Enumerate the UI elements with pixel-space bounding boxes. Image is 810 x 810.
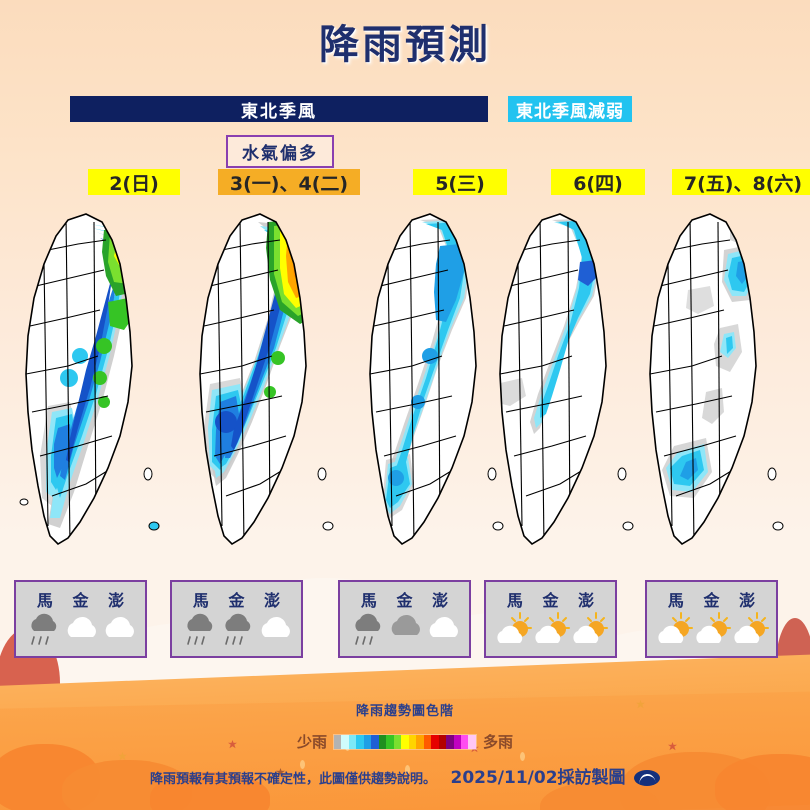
- footer-credit: 2025/11/02採訪製圖: [450, 768, 625, 788]
- cloud-icon: [256, 609, 296, 651]
- offshore-label: 馬 金 澎: [647, 587, 776, 611]
- taiwan-map-svg: [182, 206, 344, 554]
- offshore-box-day3: 馬 金 澎: [338, 580, 471, 658]
- legend-color-swatch: [394, 735, 401, 749]
- legend-bar-row: 少雨 多雨: [0, 731, 810, 752]
- offshore-label: 馬 金 澎: [340, 587, 469, 611]
- legend-color-swatch: [379, 735, 386, 749]
- page-title: 降雨預測: [0, 12, 810, 70]
- offshore-box-day1: 馬 金 澎: [14, 580, 147, 658]
- infographic-root: 降雨預測 東北季風 東北季風減弱 水氣偏多 2(日) 3(一)、4(二) 5(三…: [0, 0, 810, 810]
- legend-low-label: 少雨: [297, 731, 327, 752]
- offshore-box-day4: 馬 金 澎: [484, 580, 617, 658]
- offshore-icons: [486, 609, 615, 653]
- rain-cloud-icon: [180, 609, 220, 651]
- cloud-icon: [424, 609, 464, 651]
- legend-color-swatch: [371, 735, 378, 749]
- cloud-icon: [100, 609, 140, 651]
- legend-color-swatch: [401, 735, 408, 749]
- date-label-day4: 6(四): [551, 169, 645, 195]
- date-label-day5: 7(五)、8(六): [672, 169, 810, 195]
- offshore-icons: [647, 609, 776, 653]
- legend-color-swatch: [431, 735, 438, 749]
- offshore-icons: [172, 609, 301, 653]
- rain-map-day1: [8, 206, 170, 554]
- legend-color-swatch: [416, 735, 423, 749]
- legend-color-swatch: [356, 735, 363, 749]
- footer: 降雨預報有其預報不確定性，此圖僅供趨勢說明。 2025/11/02採訪製圖: [0, 763, 810, 788]
- legend-color-swatch: [341, 735, 348, 749]
- legend-color-swatch: [468, 735, 475, 749]
- rain-cloud-icon: [24, 609, 64, 651]
- legend-color-swatch: [446, 735, 453, 749]
- offshore-box-day5: 馬 金 澎: [645, 580, 778, 658]
- taiwan-map-svg: [8, 206, 170, 554]
- cloud-gray-icon: [386, 609, 426, 651]
- sun-cloud-icon: [693, 609, 733, 651]
- legend-high-label: 多雨: [483, 731, 513, 752]
- rain-map-day4: [482, 206, 644, 554]
- legend-color-swatch: [349, 735, 356, 749]
- legend-colorbar: [333, 734, 477, 750]
- broadcaster-logo-icon: [634, 770, 660, 786]
- banner-monsoon-weakening: 東北季風減弱: [508, 96, 632, 122]
- taiwan-map-svg: [632, 206, 794, 554]
- offshore-label: 馬 金 澎: [16, 587, 145, 611]
- legend-color-swatch: [364, 735, 371, 749]
- legend-color-swatch: [424, 735, 431, 749]
- date-label-day1: 2(日): [88, 169, 180, 195]
- offshore-icons: [340, 609, 469, 653]
- banner-northeast-monsoon: 東北季風: [70, 96, 488, 122]
- taiwan-map-svg: [482, 206, 644, 554]
- banner-high-moisture: 水氣偏多: [226, 135, 334, 168]
- offshore-label: 馬 金 澎: [172, 587, 301, 611]
- offshore-icons: [16, 609, 145, 653]
- rain-map-day5: [632, 206, 794, 554]
- sun-cloud-icon: [532, 609, 572, 651]
- date-label-day2: 3(一)、4(二): [218, 169, 360, 195]
- rain-map-day2: [182, 206, 344, 554]
- sun-cloud-icon: [494, 609, 534, 651]
- legend-color-swatch: [461, 735, 468, 749]
- cloud-icon: [62, 609, 102, 651]
- legend-color-swatch: [409, 735, 416, 749]
- rain-cloud-icon: [218, 609, 258, 651]
- footer-disclaimer: 降雨預報有其預報不確定性，此圖僅供趨勢說明。: [150, 772, 436, 787]
- legend-title: 降雨趨勢圖色階: [0, 700, 810, 719]
- sun-cloud-icon: [570, 609, 610, 651]
- sun-cloud-icon: [655, 609, 695, 651]
- legend-color-swatch: [454, 735, 461, 749]
- date-label-day3: 5(三): [413, 169, 507, 195]
- legend-color-swatch: [334, 735, 341, 749]
- offshore-label: 馬 金 澎: [486, 587, 615, 611]
- date-row: 2(日) 3(一)、4(二) 5(三) 6(四) 7(五)、8(六): [0, 169, 810, 195]
- leaf-icon: [118, 752, 127, 761]
- legend-color-swatch: [439, 735, 446, 749]
- sun-cloud-icon: [731, 609, 771, 651]
- legend-color-swatch: [386, 735, 393, 749]
- rain-cloud-icon: [348, 609, 388, 651]
- offshore-box-day2: 馬 金 澎: [170, 580, 303, 658]
